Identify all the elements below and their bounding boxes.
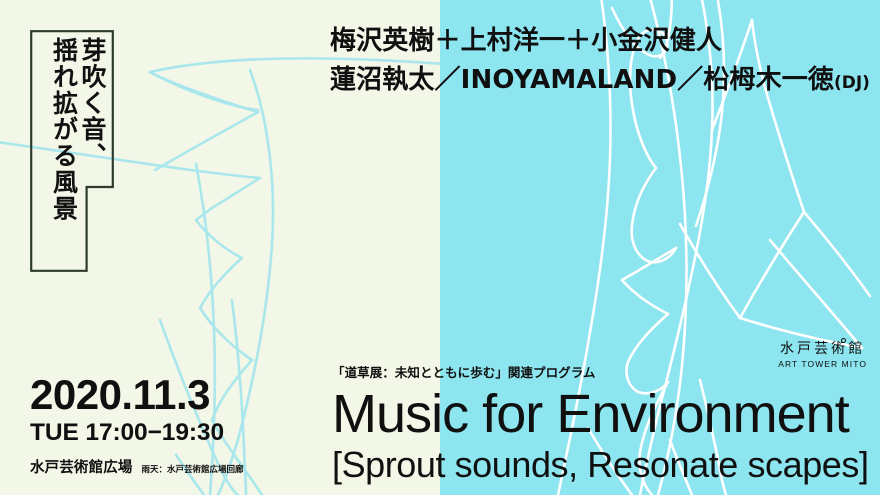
museum-logo: 水戸芸術館 ART TOWER MITO [778, 341, 867, 369]
schedule-block: 2020.11.3 TUE 17:00−19:30 水戸芸術館広場 雨天：水戸芸… [30, 373, 320, 477]
performer-line-2: 蓮沼執太／INOYAMALAND／柗栂木一徳(DJ) [330, 61, 875, 100]
title-column-left: 揺れ拡がる風景 [49, 37, 78, 265]
venue-rain-note: 雨天：水戸芸術館広場回廊 [142, 463, 244, 477]
event-date: 2020.11.3 [30, 373, 320, 416]
venue-name: 水戸芸術館広場 [30, 456, 133, 477]
vertical-title-text: 芽吹く音、 揺れ拡がる風景 [30, 30, 114, 272]
museum-logo-jp: 水戸芸術館 [780, 342, 865, 356]
performer-list: 梅沢英樹＋上村洋一＋小金沢健人 蓮沼執太／INOYAMALAND／柗栂木一徳(D… [330, 22, 875, 100]
performer-dj-suffix: (DJ) [834, 73, 870, 93]
title-column-right: 芽吹く音、 [78, 37, 107, 205]
main-title: Music for Environment [332, 387, 868, 442]
vertical-title-box: 芽吹く音、 揺れ拡がる風景 [30, 30, 114, 272]
performer-line-1: 梅沢英樹＋上村洋一＋小金沢健人 [330, 22, 875, 61]
venue-row: 水戸芸術館広場 雨天：水戸芸術館広場回廊 [30, 456, 320, 477]
museum-logo-jp-text: 水戸芸術館 [780, 341, 865, 357]
main-subtitle: [Sprout sounds, Resonate scapes] [332, 443, 868, 487]
museum-logo-en: ART TOWER MITO [778, 360, 867, 369]
main-title-block: 「道草展：未知とともに歩む」関連プログラム Music for Environm… [332, 362, 868, 487]
poster-canvas: 芽吹く音、 揺れ拡がる風景 梅沢英樹＋上村洋一＋小金沢健人 蓮沼執太／INOYA… [0, 0, 880, 495]
event-time: TUE 17:00−19:30 [30, 418, 320, 448]
performer-line-2-main: 蓮沼執太／INOYAMALAND／柗栂木一徳 [330, 65, 834, 95]
